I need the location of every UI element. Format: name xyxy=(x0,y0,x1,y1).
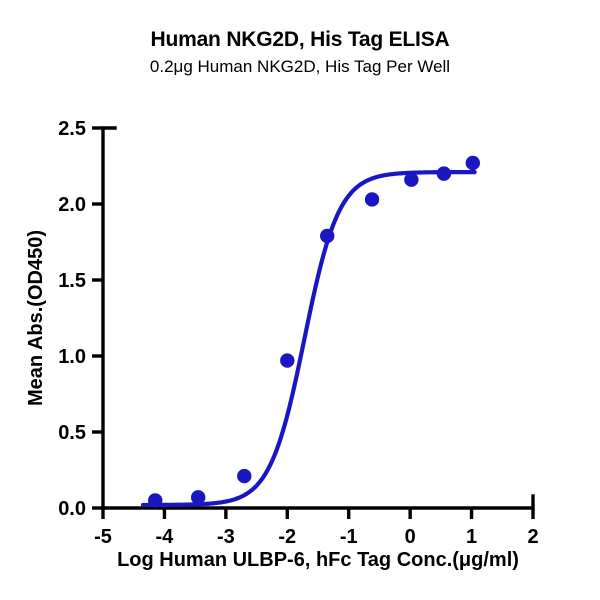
x-axis-ticks: -5-4-3-2-1012 xyxy=(94,508,538,548)
x-tick-label: -4 xyxy=(156,526,175,548)
x-tick-label: 0 xyxy=(405,526,416,548)
data-points-group xyxy=(148,156,480,508)
sigmoid-fit-curve xyxy=(143,172,475,505)
y-axis-ticks: 0.00.51.01.52.02.5 xyxy=(58,118,103,520)
data-point xyxy=(466,156,480,170)
y-tick-label: 2.5 xyxy=(58,118,86,140)
data-point xyxy=(280,353,294,367)
x-tick-label: 1 xyxy=(466,526,477,548)
x-tick-label: 2 xyxy=(527,526,538,548)
data-point xyxy=(365,192,379,206)
data-point xyxy=(320,229,334,243)
x-tick-label: -3 xyxy=(217,526,235,548)
y-axis-title: Mean Abs.(OD450) xyxy=(25,230,47,406)
x-tick-label: -1 xyxy=(340,526,358,548)
x-axis-title: Log Human ULBP-6, hFc Tag Conc.(μg/ml) xyxy=(117,549,519,571)
x-tick-label: -2 xyxy=(278,526,296,548)
fit-curve-group xyxy=(143,172,475,505)
data-point xyxy=(148,493,162,507)
x-tick-label: -5 xyxy=(94,526,112,548)
plot-area: -5-4-3-2-1012 0.00.51.01.52.02.5 Log Hum… xyxy=(0,0,600,600)
elisa-chart-figure: Human NKG2D, His Tag ELISA 0.2μg Human N… xyxy=(0,0,600,600)
y-tick-label: 0.5 xyxy=(58,422,86,444)
data-point xyxy=(191,490,205,504)
y-tick-label: 0.0 xyxy=(58,498,86,520)
data-point xyxy=(437,166,451,180)
y-axis-line xyxy=(103,128,115,508)
y-tick-label: 1.0 xyxy=(58,346,86,368)
y-tick-label: 2.0 xyxy=(58,194,86,216)
y-tick-label: 1.5 xyxy=(58,270,86,292)
data-point xyxy=(404,172,418,186)
data-point xyxy=(237,469,251,483)
axes xyxy=(103,128,533,508)
